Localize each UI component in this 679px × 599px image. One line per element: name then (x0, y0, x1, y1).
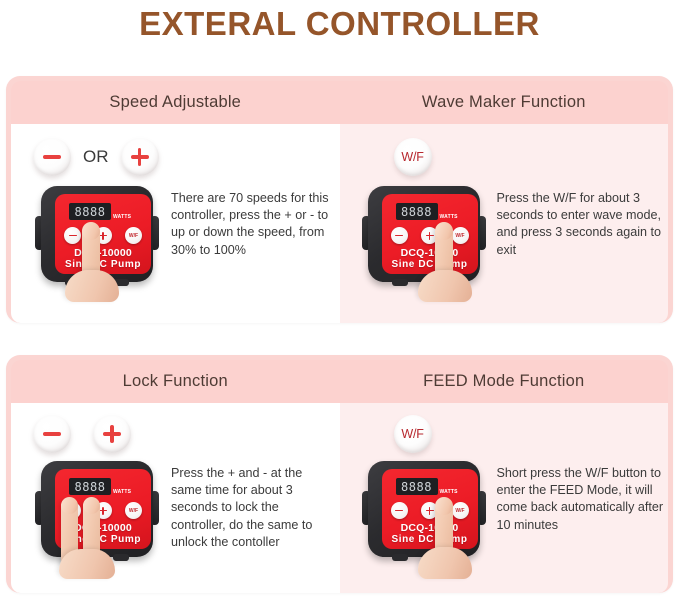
plus-icon (426, 507, 434, 515)
wf-icon: W/F (401, 150, 423, 164)
fingertip (435, 497, 453, 515)
key-badges-feed: W/F (394, 415, 432, 453)
page-title: EXTERAL CONTROLLER (0, 0, 679, 46)
wf-icon: W/F (129, 508, 138, 514)
minus-key-badge[interactable] (33, 138, 71, 176)
section-bottom: Lock Function FEED Mode Function (6, 355, 673, 593)
panel-header-lock-function: Lock Function (11, 360, 340, 403)
hand (418, 547, 472, 579)
device-display-value: 8888 (75, 480, 106, 494)
device-button-row: W/F (391, 227, 469, 244)
device-display-value: 8888 (401, 480, 432, 494)
device-shell: 8888 WATTS W/F DCQ-10000 Sine DC Pump (368, 461, 480, 557)
device-minus-button[interactable] (391, 227, 408, 244)
device-display: 8888 (396, 478, 438, 495)
minus-icon (43, 432, 61, 435)
device-display: 8888 (69, 478, 111, 495)
device-watts-label: WATTS (113, 214, 131, 220)
device-wf-button[interactable]: W/F (452, 502, 469, 519)
device-model-line1: DCQ-10000 (55, 247, 151, 259)
device-faceplate: 8888 WATTS W/F DCQ-10000 Sine DC Pump (382, 469, 478, 549)
minus-icon (43, 155, 61, 158)
wf-icon: W/F (455, 233, 464, 239)
key-badges-lock (33, 415, 131, 453)
device-display-value: 8888 (401, 205, 432, 219)
product-infographic: EXTERAL CONTROLLER Speed Adjustable Wave… (0, 0, 679, 599)
panel-speed-adjustable: OR 8888 WATTS (11, 124, 340, 323)
device-model-line2: Sine DC Pump (382, 534, 478, 546)
fingertip (82, 222, 100, 240)
section-bottom-body-band: 8888 WATTS W/F DCQ-10000 Sine DC Pump (11, 403, 668, 593)
caption-lock-function: Press the + and - at the same time for a… (171, 465, 333, 551)
device-faceplate: 8888 WATTS W/F DCQ-10000 Sine DC Pump (55, 194, 151, 274)
device-minus-button[interactable] (391, 502, 408, 519)
device-foot-left (392, 554, 408, 561)
device-button-row: W/F (64, 227, 142, 244)
device-model-text: DCQ-10000 Sine DC Pump (55, 247, 151, 271)
plus-icon (99, 232, 107, 240)
device-foot-right (113, 554, 129, 561)
fingertip-plus (83, 497, 100, 514)
device-model-line2: Sine DC Pump (382, 259, 478, 271)
device-model-line1: DCQ-10000 (382, 247, 478, 259)
panel-feed-mode-function: W/F 8888 WATTS (340, 403, 669, 593)
hand (418, 270, 472, 302)
or-label: OR (81, 147, 111, 167)
device-display: 8888 (396, 203, 438, 220)
controller-device-feed: 8888 WATTS W/F DCQ-10000 Sine DC Pump (362, 461, 486, 557)
device-wf-button[interactable]: W/F (452, 227, 469, 244)
wf-icon: W/F (129, 233, 138, 239)
device-shell: 8888 WATTS W/F DCQ-10000 Sine DC Pump (368, 186, 480, 282)
device-wf-button[interactable]: W/F (125, 502, 142, 519)
fingertip (435, 222, 453, 240)
minus-key-badge[interactable] (33, 415, 71, 453)
device-watts-label: WATTS (113, 489, 131, 495)
key-badges-wave: W/F (394, 138, 432, 176)
section-top: Speed Adjustable Wave Maker Function OR (6, 76, 673, 323)
caption-wave-maker-function: Press the W/F for about 3 seconds to ent… (497, 190, 665, 259)
hand (59, 549, 115, 579)
plus-icon (103, 425, 121, 443)
device-model-line1: DCQ-10000 (382, 522, 478, 534)
device-watts-label: WATTS (440, 214, 458, 220)
device-model-line2: Sine DC Pump (55, 259, 151, 271)
controller-device-speed: 8888 WATTS W/F DCQ-10000 Sine DC Pump (35, 186, 159, 282)
fingertip-minus (61, 497, 78, 514)
section-top-body-band: OR 8888 WATTS (11, 124, 668, 323)
panel-header-wave-maker-function: Wave Maker Function (340, 81, 669, 124)
controller-device-wave: 8888 WATTS W/F DCQ-10000 Sine DC Pump (362, 186, 486, 282)
caption-speed-adjustable: There are 70 speeds for this controller,… (171, 190, 331, 259)
device-display-value: 8888 (75, 205, 106, 219)
section-bottom-header-band: Lock Function FEED Mode Function (11, 360, 668, 403)
controller-device-lock: 8888 WATTS W/F DCQ-10000 Sine DC Pump (35, 461, 159, 557)
section-top-header-band: Speed Adjustable Wave Maker Function (11, 81, 668, 124)
wf-icon: W/F (455, 508, 464, 514)
panel-lock-function: 8888 WATTS W/F DCQ-10000 Sine DC Pump (11, 403, 340, 593)
device-display: 8888 (69, 203, 111, 220)
hand (65, 270, 119, 302)
plus-key-badge[interactable] (93, 415, 131, 453)
panel-wave-maker-function: W/F 8888 WATTS (340, 124, 669, 323)
device-model-text: DCQ-10000 Sine DC Pump (382, 522, 478, 546)
device-minus-button[interactable] (64, 227, 81, 244)
minus-icon (69, 235, 77, 237)
minus-icon (395, 235, 403, 237)
device-button-row: W/F (391, 502, 469, 519)
device-model-text: DCQ-10000 Sine DC Pump (382, 247, 478, 271)
panel-header-feed-mode-function: FEED Mode Function (340, 360, 669, 403)
panel-header-speed-adjustable: Speed Adjustable (11, 81, 340, 124)
device-watts-label: WATTS (440, 489, 458, 495)
device-foot-left (392, 279, 408, 286)
key-badges-speed: OR (33, 138, 159, 176)
minus-icon (395, 510, 403, 512)
wf-key-badge[interactable]: W/F (394, 415, 432, 453)
plus-icon (99, 507, 107, 515)
plus-icon (131, 148, 149, 166)
plus-icon (426, 232, 434, 240)
device-wf-button[interactable]: W/F (125, 227, 142, 244)
plus-key-badge[interactable] (121, 138, 159, 176)
wf-icon: W/F (401, 427, 423, 441)
wf-key-badge[interactable]: W/F (394, 138, 432, 176)
device-faceplate: 8888 WATTS W/F DCQ-10000 Sine DC Pump (382, 194, 478, 274)
caption-feed-mode-function: Short press the W/F button to enter the … (497, 465, 669, 534)
